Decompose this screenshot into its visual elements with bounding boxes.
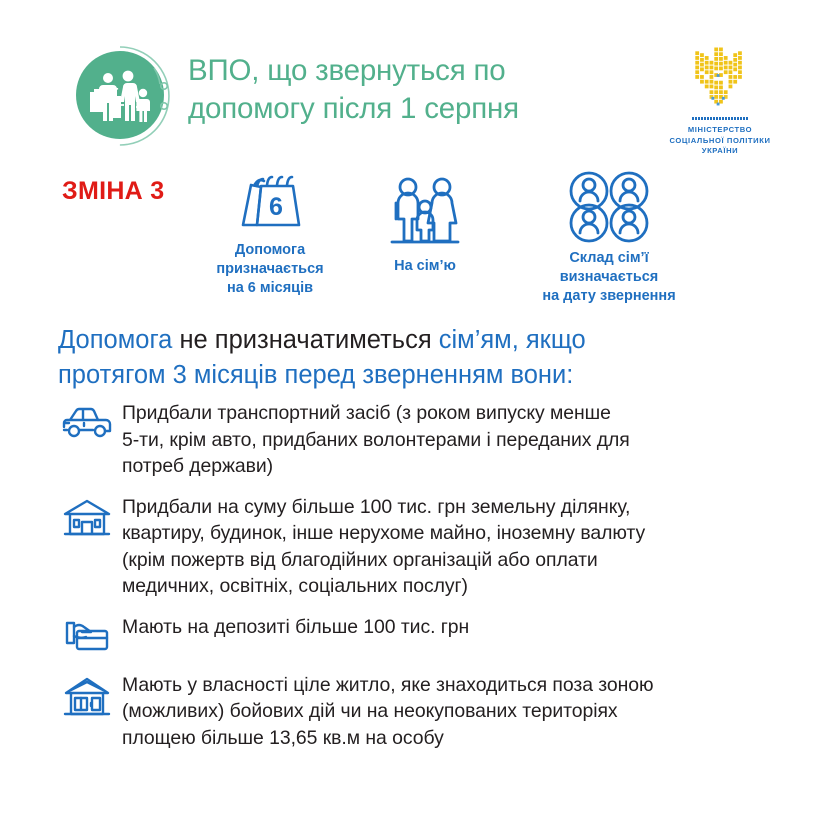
list-item-line: 5-ти, крім авто, придбаних волонтерами і… (122, 427, 792, 454)
header-badge (68, 44, 174, 148)
main-heading-part-3: сім’ям, якщо (439, 326, 586, 354)
feature-composition-line-2: визначається (510, 268, 708, 287)
family-three-persons-icon (384, 173, 466, 251)
list-item-line: площею більше 13,65 кв.м на особу (122, 725, 792, 752)
feature-term-line-3: на 6 місяців (190, 279, 350, 298)
list-item-line: Придбали на суму більше 100 тис. грн зем… (122, 494, 792, 521)
list-item-line: Придбали транспортний засіб (з роком вип… (122, 400, 792, 427)
main-heading-line-1: Допомога не призначатиметься сім’ям, якщ… (58, 323, 764, 358)
feature-family-line-1: На сім’ю (363, 257, 487, 276)
header: ВПО, що звернуться по допомогу після 1 с… (0, 0, 820, 165)
list-item-line: Мають у власності ціле житло, яке знаход… (122, 672, 792, 699)
feature-composition-line-3: на дату звернення (510, 287, 708, 306)
feature-per-family: На сім’ю (363, 173, 487, 276)
ministry-logo: МІНІСТЕРСТВО СОЦІАЛЬНОЇ ПОЛІТИКИ УКРАЇНИ (660, 38, 780, 157)
feature-term-line-2: призначається (190, 260, 350, 279)
ministry-name-line-3: УКРАЇНИ (660, 146, 780, 157)
list-item-line: потреб держави) (122, 453, 792, 480)
ukraine-trident-pixel-icon (682, 38, 758, 114)
list-item-text: Придбали транспортний засіб (з роком вип… (122, 400, 792, 480)
list-item-line: (можливих) бойових дій чи на неокуповани… (122, 698, 792, 725)
main-heading-part-2: не призначатиметься (179, 326, 438, 354)
family-with-luggage-icon (68, 44, 174, 148)
page-title-line-1: ВПО, що звернуться по (188, 52, 618, 90)
ministry-name-line-1: МІНІСТЕРСТВО (660, 125, 780, 136)
ministry-name-line-2: СОЦІАЛЬНОЇ ПОЛІТИКИ (660, 136, 780, 147)
list-item: Мають на депозиті більше 100 тис. грн (52, 614, 792, 654)
list-item-text: Мають на депозиті більше 100 тис. грн (122, 614, 792, 641)
feature-term-line-1: Допомога (190, 241, 350, 260)
list-item-line: медичних, освітніх, соціальних послуг) (122, 573, 792, 600)
list-item-line: квартиру, будинок, інше нерухоме майно, … (122, 520, 792, 547)
list-item: Придбали транспортний засіб (з роком вип… (52, 400, 792, 480)
list-item-text: Мають у власності ціле житло, яке знаход… (122, 672, 792, 752)
main-heading-line-2: протягом 3 місяців перед зверненням вони… (58, 358, 764, 393)
ministry-name: МІНІСТЕРСТВО СОЦІАЛЬНОЇ ПОЛІТИКИ УКРАЇНИ (660, 125, 780, 157)
page-title-line-2: допомогу після 1 серпня (188, 90, 618, 128)
conditions-list: Придбали транспортний засіб (з роком вип… (52, 400, 792, 765)
list-item-line: Мають на депозиті більше 100 тис. грн (122, 614, 792, 641)
change-number-label: ЗМІНА 3 (62, 177, 165, 206)
hand-with-card-icon (52, 614, 122, 654)
calendar-month-count: 6 (269, 193, 283, 221)
list-item: Мають у власності ціле житло, яке знаход… (52, 672, 792, 752)
change-band: ЗМІНА 3 6 Допомога призначається на 6 мі… (0, 165, 820, 310)
feature-family-composition: Склад сім’ї визначається на дату звернен… (510, 167, 708, 306)
house-with-columns-icon (52, 672, 122, 718)
four-people-group-icon (560, 167, 658, 243)
car-icon (52, 400, 122, 440)
feature-composition-line-1: Склад сім’ї (510, 249, 708, 268)
ministry-divider (692, 117, 748, 120)
house-icon (52, 494, 122, 538)
page-title: ВПО, що звернуться по допомогу після 1 с… (188, 52, 618, 128)
calendar-6-icon: 6 (227, 173, 313, 235)
list-item: Придбали на суму більше 100 тис. грн зем… (52, 494, 792, 600)
list-item-text: Придбали на суму більше 100 тис. грн зем… (122, 494, 792, 600)
main-heading-part-1: Допомога (58, 326, 179, 354)
main-heading: Допомога не призначатиметься сім’ям, якщ… (58, 323, 764, 393)
list-item-line: (крім пожертв від благодійних організаці… (122, 547, 792, 574)
feature-assistance-term: 6 Допомога призначається на 6 місяців (190, 173, 350, 298)
